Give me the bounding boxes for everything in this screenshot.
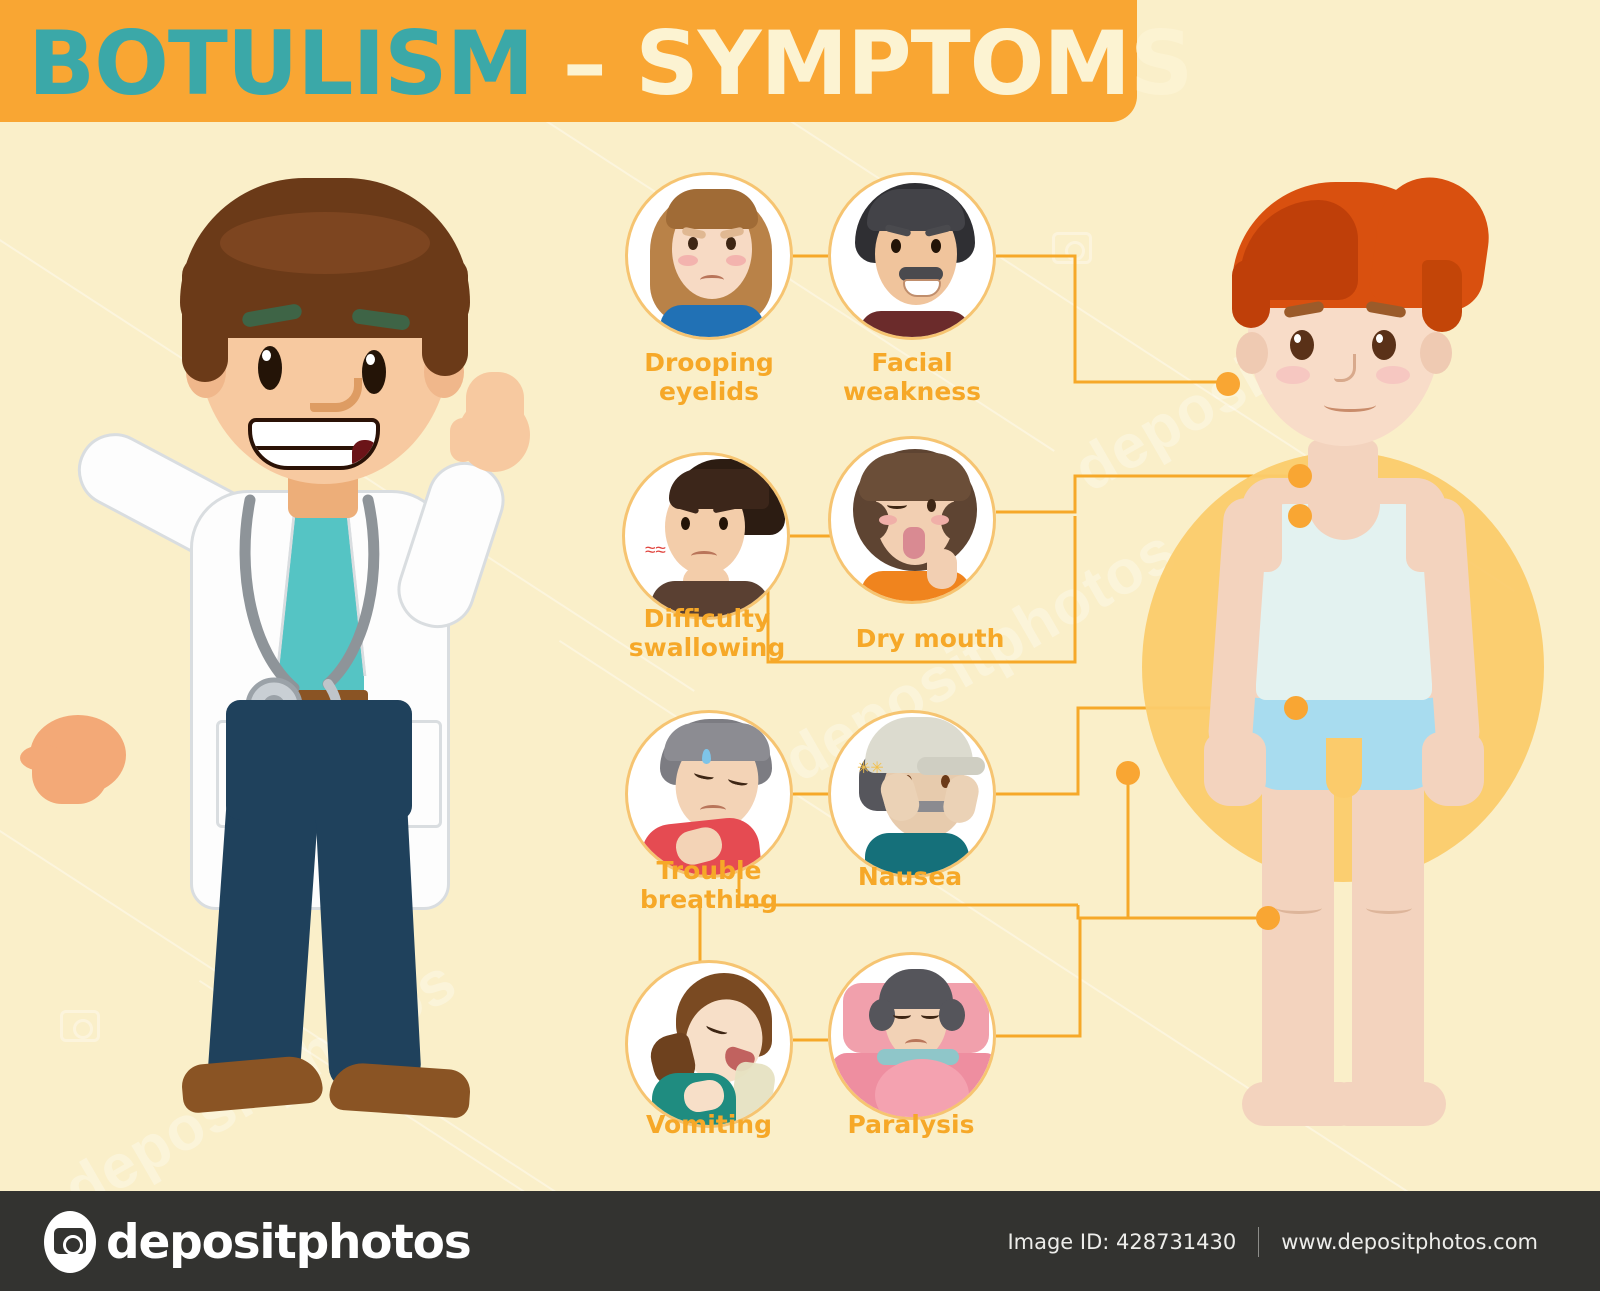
title-main: BOTULISM [28, 12, 533, 115]
patient-foot-right [1336, 1082, 1446, 1126]
footer-meta: Image ID: 428731430 www.depositphotos.co… [1007, 1227, 1538, 1257]
doctor-hair-fringe [220, 212, 430, 274]
woman-eye-left-closed [887, 501, 907, 509]
symptom-circle-paralysis[interactable] [828, 952, 996, 1120]
footer-divider [1258, 1227, 1259, 1257]
symptom-circle-drooping-eyelids[interactable] [625, 172, 793, 340]
girl-cheek-right [726, 255, 746, 266]
symptom-label-dry-mouth: Dry mouth [825, 624, 1035, 653]
page-title: BOTULISM – SYMPTOMS [28, 10, 1192, 118]
paralysis-eye-right-closed [921, 1011, 939, 1019]
patient-mouth [1324, 398, 1376, 412]
patient-hair-side-right [1422, 260, 1462, 332]
symptom-label-vomiting: Vomiting [604, 1110, 814, 1139]
brand-name: depositphotos [106, 1215, 471, 1270]
paralysis-eye-left-closed [893, 1011, 911, 1019]
doctor-eye-highlight-left [262, 350, 271, 361]
doctor-right-hand-fingers [466, 372, 524, 426]
symptom-label-nausea: Nausea [805, 862, 1015, 891]
oldman-hair-front [664, 723, 770, 761]
title-sub: – SYMPTOMS [533, 12, 1192, 115]
depositphotos-logo[interactable]: depositphotos [44, 1211, 471, 1273]
woman-cheek-left [879, 515, 897, 525]
boy-grimace [691, 551, 717, 561]
pain-squiggle-icon: ≈≈ [645, 541, 667, 565]
doctor-figure [20, 160, 540, 1160]
patient-hand-left [1204, 732, 1266, 806]
symptom-label-drooping-eyelids: Drooping eyelids [604, 348, 814, 406]
image-id: Image ID: 428731430 [1007, 1230, 1236, 1254]
sweat-drop-icon [702, 749, 711, 764]
patient-eye-highlight-left [1294, 334, 1301, 343]
girl-shirt [660, 305, 764, 340]
woman-eye-right [927, 499, 936, 512]
boy-eye-left [681, 517, 690, 530]
symptom-label-trouble-breathing: Trouble breathing [604, 856, 814, 914]
patient-hand-right [1422, 732, 1484, 806]
patient-eye-highlight-right [1376, 334, 1383, 343]
symptom-label-paralysis: Paralysis [806, 1110, 1016, 1139]
patient-knee-crease-left [1276, 902, 1322, 914]
girl-frown [700, 275, 724, 285]
dizzy-sparkles-icon: ✳✳ [857, 761, 883, 783]
doctor-shoe-left [180, 1054, 324, 1114]
marker-mouth[interactable] [1288, 464, 1312, 488]
title-banner: BOTULISM – SYMPTOMS [0, 0, 1137, 122]
patient-knee-crease-right [1366, 902, 1412, 914]
infographic-canvas: depositphotos depositphotos depositphoto… [0, 0, 1600, 1191]
man-eye-left [891, 239, 901, 253]
doctor-right-hand-thumb [450, 418, 476, 462]
marker-chest[interactable] [1284, 696, 1308, 720]
patient-neck [1308, 440, 1378, 508]
woman-tongue [903, 527, 925, 559]
oldman-frown [700, 805, 726, 815]
patient-shorts-gap [1326, 738, 1362, 798]
marker-throat[interactable] [1288, 504, 1312, 528]
depositphotos-footer: depositphotos Image ID: 428731430 www.de… [0, 1191, 1600, 1291]
doctor-hair-sideburn-left [182, 256, 228, 382]
symptom-circle-vomiting[interactable] [625, 960, 793, 1128]
website-url[interactable]: www.depositphotos.com [1281, 1230, 1538, 1254]
symptom-circle-facial-weakness[interactable] [828, 172, 996, 340]
symptom-circle-trouble-breathing[interactable] [625, 710, 793, 878]
patient-ear-left [1236, 332, 1268, 374]
paralysis-bun-left [869, 999, 895, 1031]
patient-ear-right [1420, 332, 1452, 374]
doctor-shoe-right [328, 1061, 471, 1119]
doctor-eye-highlight-right [366, 354, 375, 365]
paralysis-mouth [905, 1039, 927, 1049]
marker-eye[interactable] [1216, 372, 1240, 396]
symptom-label-facial-weakness: Facial weakness [807, 348, 1017, 406]
woman-cheek-right [931, 515, 949, 525]
girl-eye-left [688, 237, 698, 250]
woman-hand [927, 549, 957, 589]
patient-cheek-left [1276, 366, 1310, 384]
symptom-circle-dry-mouth[interactable] [828, 436, 996, 604]
patient-leg-right [1352, 760, 1424, 1100]
doctor-smile [248, 418, 380, 470]
girl-eye-right [726, 237, 736, 250]
marker-knee[interactable] [1256, 906, 1280, 930]
patient-leg-left [1262, 760, 1334, 1100]
man-eye-right [931, 239, 941, 253]
doctor-pants-seat [226, 700, 412, 820]
paralysis-bun-right [939, 999, 965, 1031]
camera-icon [44, 1211, 96, 1273]
symptom-circle-difficulty-swallowing[interactable]: ≈≈ [622, 452, 790, 620]
symptom-label-difficulty-swallowing: Difficulty swallowing [602, 604, 812, 662]
woman-curls [859, 453, 971, 501]
boy-hair-front [669, 469, 769, 509]
patient-cheek-right [1376, 366, 1410, 384]
patient-hair-side-left [1232, 260, 1270, 328]
doctor-hair-sideburn-right [422, 256, 468, 376]
nausea-cap-brim [917, 757, 985, 775]
patient-eye-left [1290, 330, 1314, 360]
patient-figure [1080, 160, 1600, 1160]
man-shirt [859, 311, 971, 340]
doctor-left-hand-fingers [32, 760, 108, 804]
boy-eye-right [719, 517, 728, 530]
girl-hair-front [666, 189, 758, 229]
man-hair-front [867, 189, 965, 231]
patient-eye-right [1372, 330, 1396, 360]
girl-cheek-left [678, 255, 698, 266]
symptom-circle-nausea[interactable]: ✳✳ [828, 710, 996, 878]
marker-hand[interactable] [1116, 761, 1140, 785]
